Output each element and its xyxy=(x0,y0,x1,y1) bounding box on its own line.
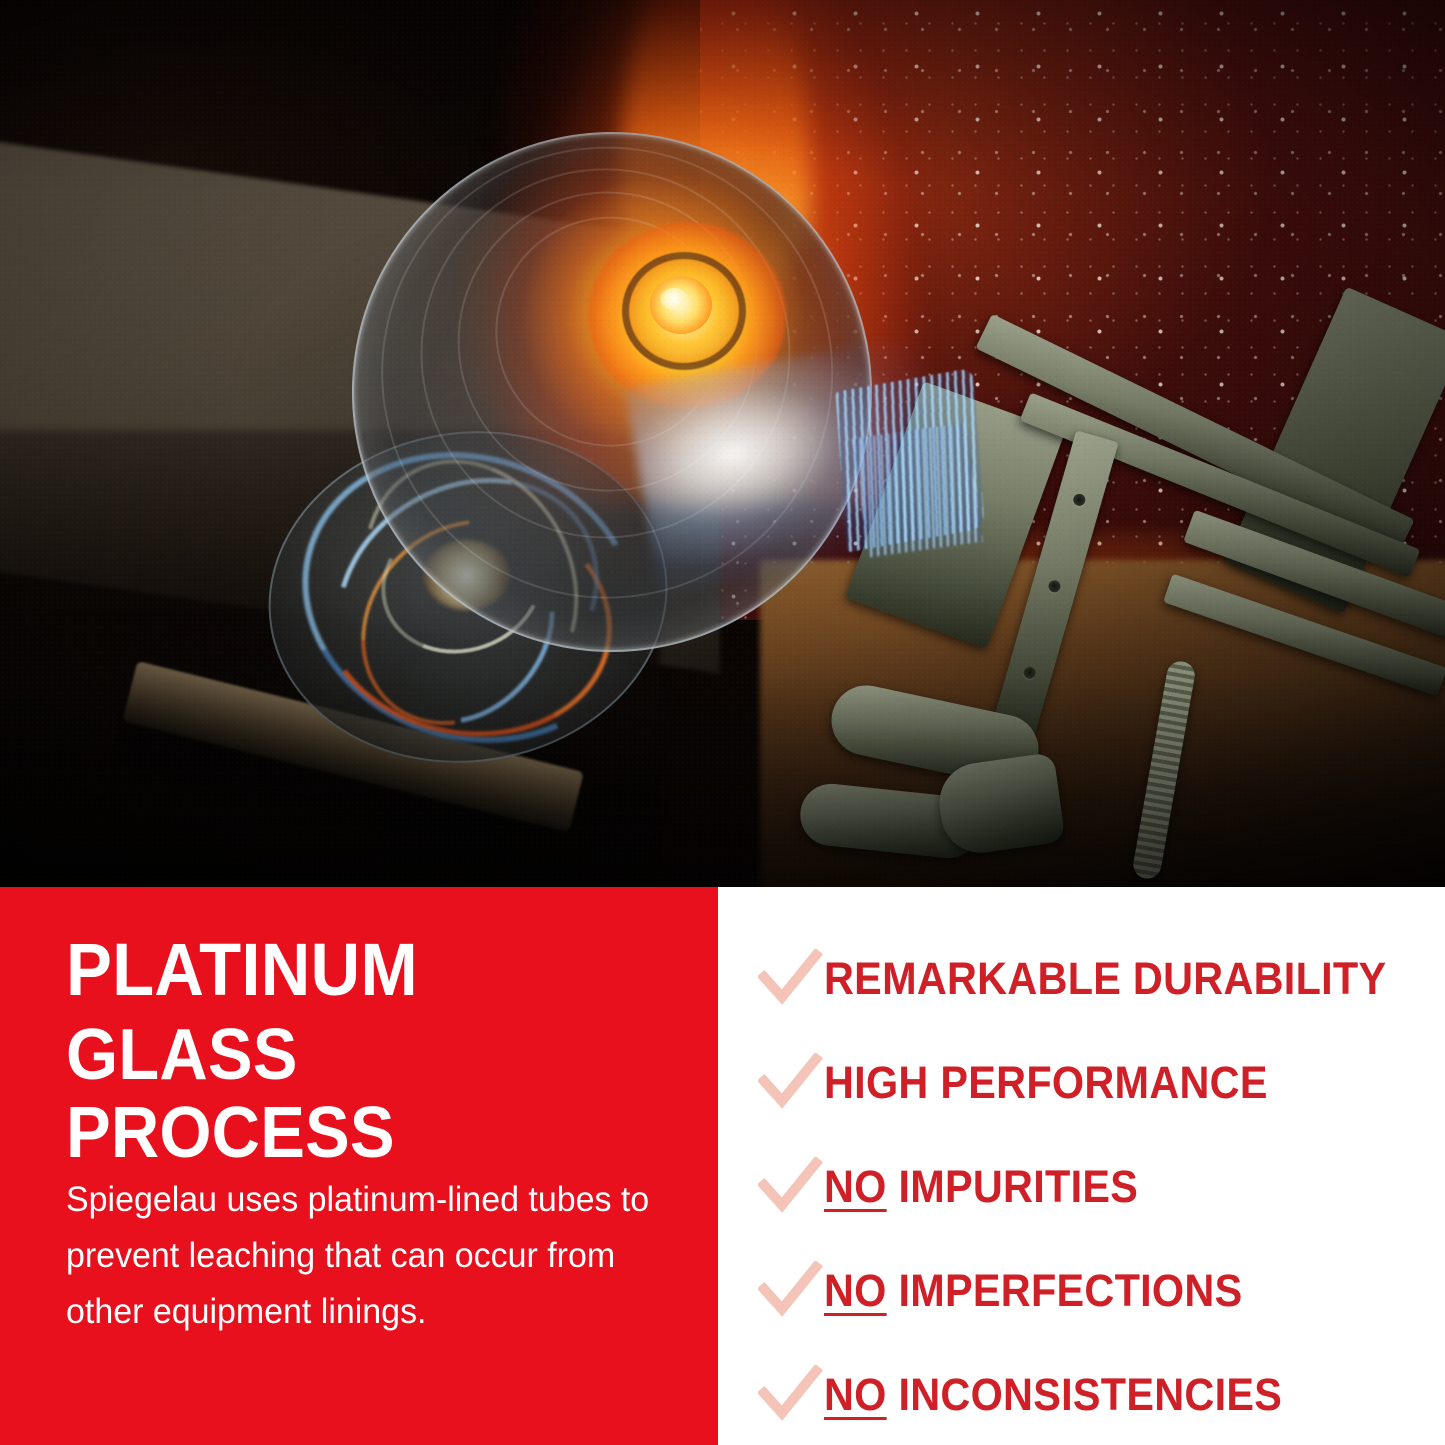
headline-line-2: GLASS PROCESS xyxy=(66,1016,633,1172)
red-headline-panel: PLATINUM GLASS PROCESS Spiegelau uses pl… xyxy=(0,887,718,1445)
bolt-hole xyxy=(1047,579,1062,594)
page-title: PLATINUM GLASS PROCESS xyxy=(66,930,676,1172)
list-item: HIGH PERFORMANCE xyxy=(718,1031,1445,1135)
list-item: NO IMPURITIES xyxy=(718,1135,1445,1239)
bolt-hole xyxy=(1022,665,1037,680)
list-item-text: REMARKABLE DURABILITY xyxy=(824,953,1386,1004)
list-item-label: HIGH PERFORMANCE xyxy=(824,1058,1268,1108)
list-item-text: INCONSISTENCIES xyxy=(898,1369,1282,1420)
body-copy: Spiegelau uses platinum-lined tubes to p… xyxy=(66,1172,660,1340)
benefits-checklist: REMARKABLE DURABILITY HIGH PERFORMANCE N… xyxy=(718,887,1445,1445)
infographic-canvas: PLATINUM GLASS PROCESS Spiegelau uses pl… xyxy=(0,0,1445,1445)
list-item-label: NO INCONSISTENCIES xyxy=(824,1370,1282,1420)
list-item-text: HIGH PERFORMANCE xyxy=(824,1057,1268,1108)
list-item-label: NO IMPERFECTIONS xyxy=(824,1266,1242,1316)
list-item-prefix: NO xyxy=(824,1369,887,1420)
glassblowing-photo xyxy=(0,0,1445,887)
list-item-prefix: NO xyxy=(824,1161,887,1212)
check-icon xyxy=(758,1261,824,1321)
bolt-hole xyxy=(1072,492,1087,507)
molten-core-spark xyxy=(660,288,688,310)
list-item-prefix: NO xyxy=(824,1265,887,1316)
list-item: REMARKABLE DURABILITY xyxy=(718,927,1445,1031)
list-item-text: IMPURITIES xyxy=(898,1161,1138,1212)
check-icon xyxy=(758,1053,824,1113)
list-item: NO IMPERFECTIONS xyxy=(718,1239,1445,1343)
list-item: NO INCONSISTENCIES xyxy=(718,1343,1445,1445)
list-item-label: REMARKABLE DURABILITY xyxy=(824,954,1386,1004)
blue-burner-jets-2 xyxy=(852,423,983,558)
check-icon xyxy=(758,1157,824,1217)
check-icon xyxy=(758,949,824,1009)
list-item-label: NO IMPURITIES xyxy=(824,1162,1138,1212)
check-icon xyxy=(758,1365,824,1425)
list-item-text: IMPERFECTIONS xyxy=(898,1265,1242,1316)
headline-line-1: PLATINUM xyxy=(66,930,633,1010)
photo-background-layer xyxy=(0,0,1445,887)
